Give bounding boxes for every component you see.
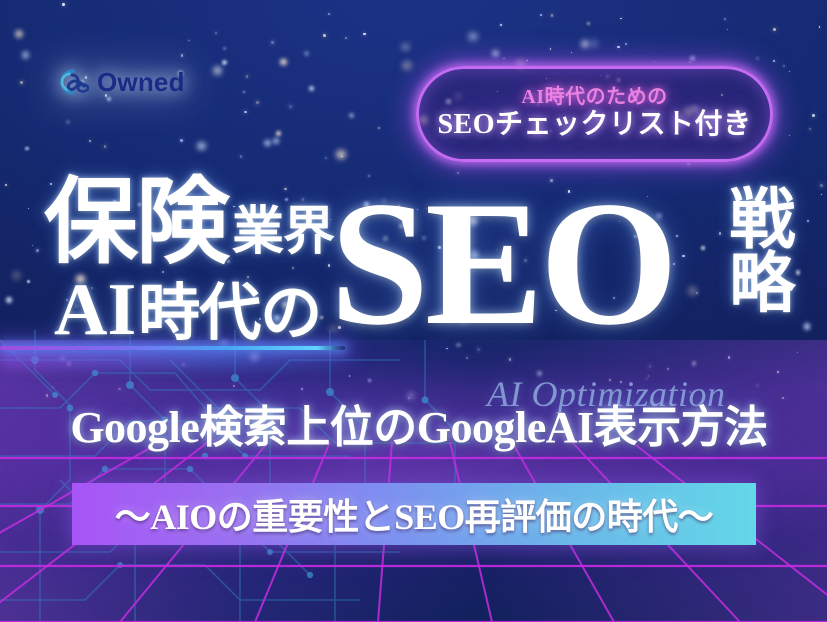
owned-logo-text: Owned: [97, 69, 185, 95]
title-ai: AI: [54, 275, 136, 345]
owned-logo[interactable]: Owned: [48, 64, 185, 100]
owned-swirl-logo-icon: [48, 64, 90, 100]
main-title-block: 保険 業界 AI 時代の SEO 戦略: [0, 160, 827, 370]
subtitle-main: Google検索上位のGoogleAI表示方法: [24, 405, 814, 451]
seo-checklist-badge[interactable]: AI時代のための SEOチェックリスト付き: [416, 66, 773, 162]
title-jidai-no: 時代の: [138, 283, 321, 345]
badge-line-2: SEOチェックリスト付き: [437, 109, 751, 141]
title-senryaku-vertical: 戦略: [722, 184, 789, 312]
title-hoken: 保険: [44, 180, 228, 266]
bottom-tagline-text: 〜AIOの重要性とSEO再評価の時代〜: [115, 488, 714, 540]
hero-seo-text: SEO: [330, 174, 674, 352]
title-line-2: AI 時代の: [54, 275, 321, 345]
title-gyokai: 業界: [232, 207, 334, 259]
promo-banner-canvas: Owned AI時代のための SEOチェックリスト付き 保険 業界 AI 時代の…: [0, 0, 827, 622]
bottom-tagline-banner[interactable]: 〜AIOの重要性とSEO再評価の時代〜: [72, 483, 756, 545]
title-line-1: 保険 業界: [44, 180, 334, 266]
badge-line-1: AI時代のための: [521, 87, 667, 108]
